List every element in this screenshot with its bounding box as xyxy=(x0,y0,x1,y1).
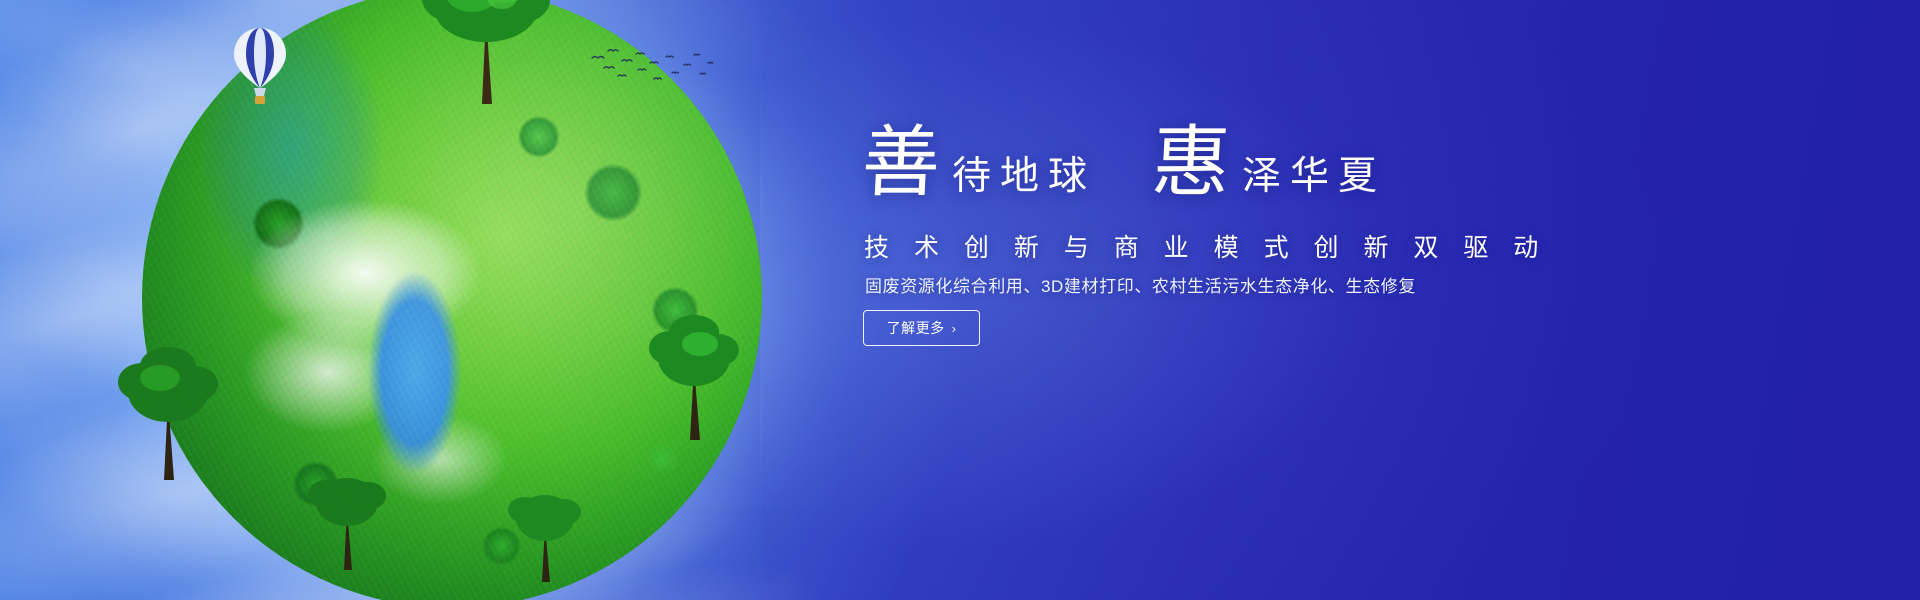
birds-flock-icon xyxy=(588,46,718,88)
headline-text-daidiqiu: 待地球 xyxy=(940,157,1096,201)
learn-more-button[interactable]: 了解更多 › xyxy=(863,310,980,346)
headline-char-hui: 惠 xyxy=(1150,128,1232,200)
chevron-right-icon: › xyxy=(952,322,957,335)
hot-air-balloon-icon xyxy=(232,26,288,108)
hero-banner: 善 待地球 惠 泽华夏 技 术 创 新 与 商 业 模 式 创 新 双 驱 动 … xyxy=(0,0,1920,600)
hero-content: 善 待地球 惠 泽华夏 技 术 创 新 与 商 业 模 式 创 新 双 驱 动 … xyxy=(862,0,1762,600)
page-title: 善 待地球 惠 泽华夏 xyxy=(862,128,1386,201)
learn-more-label: 了解更多 xyxy=(887,318,945,338)
headline-phrase-one: 善 待地球 xyxy=(862,128,1096,201)
planet-image xyxy=(0,0,900,600)
headline-char-shan: 善 xyxy=(860,128,942,200)
hero-description: 固废资源化综合利用、3D建材打印、农村生活污水生态净化、生态修复 xyxy=(865,272,1416,297)
headline-phrase-two: 惠 泽华夏 xyxy=(1152,128,1386,201)
hero-subtitle: 技 术 创 新 与 商 业 模 式 创 新 双 驱 动 xyxy=(864,228,1547,264)
headline-text-zehuaxia: 泽华夏 xyxy=(1230,157,1386,201)
